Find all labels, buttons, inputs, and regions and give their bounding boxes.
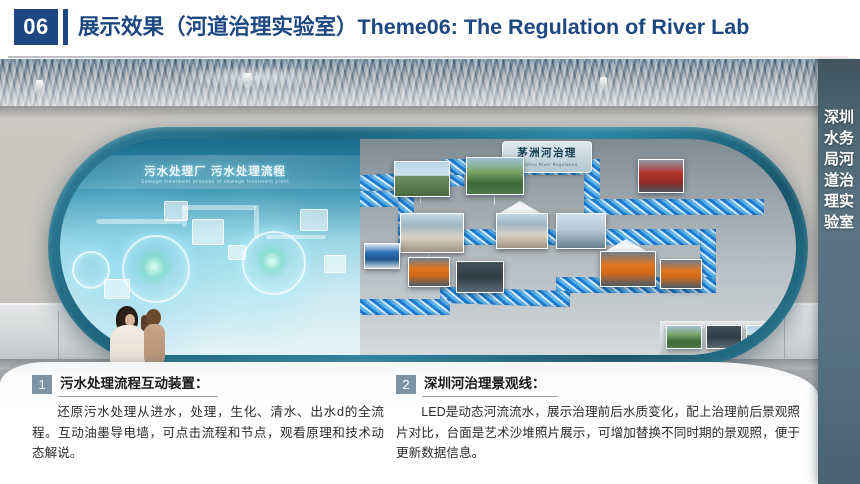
process-node[interactable]: [164, 201, 188, 221]
section-number-badge: 06: [14, 9, 58, 45]
photo-card[interactable]: [408, 257, 450, 287]
capsule-display-screen: 污水处理厂 污水处理流程 Sewage treatment process of…: [60, 139, 796, 355]
caption-number-badge: 1: [32, 375, 52, 394]
photo-card[interactable]: [638, 159, 684, 193]
pipe-segment: [266, 235, 326, 239]
photo-card[interactable]: [496, 213, 548, 249]
river-segment: [360, 299, 450, 315]
display-shelf: [660, 321, 796, 355]
ceiling-light-icon: [244, 73, 251, 84]
caption-body: 还原污水处理从进水，处理，生化、清水、出水d的全流程。互动油墨导电墙，可点击流程…: [32, 402, 384, 464]
header-divider-bar: [63, 9, 68, 45]
photo-card[interactable]: [456, 261, 504, 293]
pipe-segment: [254, 205, 259, 239]
process-node[interactable]: [300, 209, 328, 231]
hud-glow-icon: [254, 243, 290, 279]
photo-card[interactable]: [660, 259, 702, 289]
slide-root: 06 展示效果（河道治理实验室）Theme06: The Regulation …: [0, 0, 860, 484]
hud-glow-icon: [134, 247, 174, 287]
photo-card[interactable]: [400, 213, 464, 253]
photo-card[interactable]: [786, 325, 796, 349]
caption-body: LED是动态河流流水，展示治理前后水质变化，配上治理前后景观照片对比，台面是艺术…: [396, 402, 800, 464]
caption-underline: [422, 396, 558, 397]
caption-underline: [58, 396, 218, 397]
header-rule: [8, 56, 848, 58]
slide-header: 06 展示效果（河道治理实验室）Theme06: The Regulation …: [0, 0, 860, 58]
ceiling-light-icon: [600, 77, 607, 88]
process-node[interactable]: [228, 245, 246, 260]
river-segment: [584, 199, 764, 215]
photo-card[interactable]: [466, 157, 524, 195]
photo-card[interactable]: [600, 251, 656, 287]
caption-number-badge: 2: [396, 375, 416, 394]
photo-card[interactable]: [556, 213, 606, 249]
page-title: 展示效果（河道治理实验室）Theme06: The Regulation of …: [78, 12, 749, 42]
screen-title-cn: 污水处理厂 污水处理流程: [60, 163, 370, 179]
photo-card[interactable]: [394, 161, 450, 197]
process-node[interactable]: [324, 255, 346, 273]
caption-heading: 污水处理流程互动装置：: [60, 374, 209, 394]
caption-heading: 深圳河治理景观线：: [424, 374, 546, 394]
process-node[interactable]: [104, 279, 130, 299]
sewage-process-screen[interactable]: 污水处理厂 污水处理流程 Sewage treatment process of…: [60, 139, 370, 355]
photo-card[interactable]: [706, 325, 742, 349]
ceiling-light-icon: [36, 80, 43, 91]
photo-ceiling: [0, 59, 860, 106]
river-led-panel[interactable]: 茅洲河治理 Maozhou River Regulation: [360, 139, 796, 355]
screen-title-en: Sewage treatment process of sewage treat…: [60, 179, 370, 185]
sidebar-label: 深圳水务局河道治理实验室: [818, 107, 860, 233]
vertical-sidebar: 深圳水务局河道治理实验室: [818, 59, 860, 484]
child-body: [144, 324, 165, 366]
photo-card[interactable]: [364, 243, 400, 269]
pipe-segment: [182, 205, 256, 210]
photo-card[interactable]: [666, 325, 702, 349]
process-node[interactable]: [192, 219, 224, 245]
photo-card[interactable]: [746, 325, 782, 349]
caption-panel: 1 污水处理流程互动装置： 还原污水处理从进水，处理，生化、清水、出水d的全流程…: [0, 362, 818, 484]
